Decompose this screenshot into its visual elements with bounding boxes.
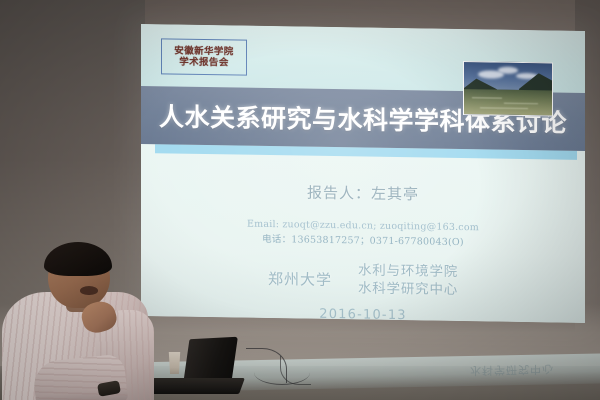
presenter-hair bbox=[44, 242, 112, 276]
affiliation-block: 郑州大学 水利与环境学院 水科学研究中心 bbox=[141, 259, 585, 301]
contact-block: Email: zuoqt@zzu.edu.cn; zuoqiting@163.c… bbox=[141, 216, 585, 252]
organizer-line-2: 学术报告会 bbox=[179, 57, 229, 69]
landscape-photo bbox=[463, 61, 553, 116]
lecture-room-photo: 安徽新华学院 学术报告会 人水关系研究与水科学学科体系讨论 bbox=[0, 0, 600, 400]
slide-surface: 安徽新华学院 学术报告会 人水关系研究与水科学学科体系讨论 bbox=[141, 24, 585, 323]
organizer-line-1: 安徽新华学院 bbox=[174, 45, 233, 57]
department-block: 水利与环境学院 水科学研究中心 bbox=[358, 263, 458, 299]
organizer-box: 安徽新华学院 学术报告会 bbox=[161, 38, 247, 75]
presenter-mouth bbox=[80, 286, 98, 295]
department-line-1: 水利与环境学院 bbox=[358, 263, 458, 282]
desk-reflection-text: 水科学研究中心 bbox=[470, 361, 554, 379]
slide-body: 报告人：左其亭 Email: zuoqt@zzu.edu.cn; zuoqiti… bbox=[141, 144, 585, 323]
slide-body-content: 报告人：左其亭 Email: zuoqt@zzu.edu.cn; zuoqiti… bbox=[141, 153, 585, 323]
email-line: Email: zuoqt@zzu.edu.cn; zuoqiting@163.c… bbox=[247, 219, 479, 234]
photo-cloud bbox=[498, 67, 518, 74]
speaker-line: 报告人：左其亭 bbox=[141, 179, 585, 207]
presenter-person bbox=[0, 246, 172, 400]
department-line-2: 水科学研究中心 bbox=[358, 280, 458, 299]
phone-line: 电话：13653817257；0371-67780043(O) bbox=[141, 231, 585, 253]
university-name: 郑州大学 bbox=[268, 268, 332, 290]
projected-slide: 安徽新华学院 学术报告会 人水关系研究与水科学学科体系讨论 bbox=[141, 24, 585, 323]
